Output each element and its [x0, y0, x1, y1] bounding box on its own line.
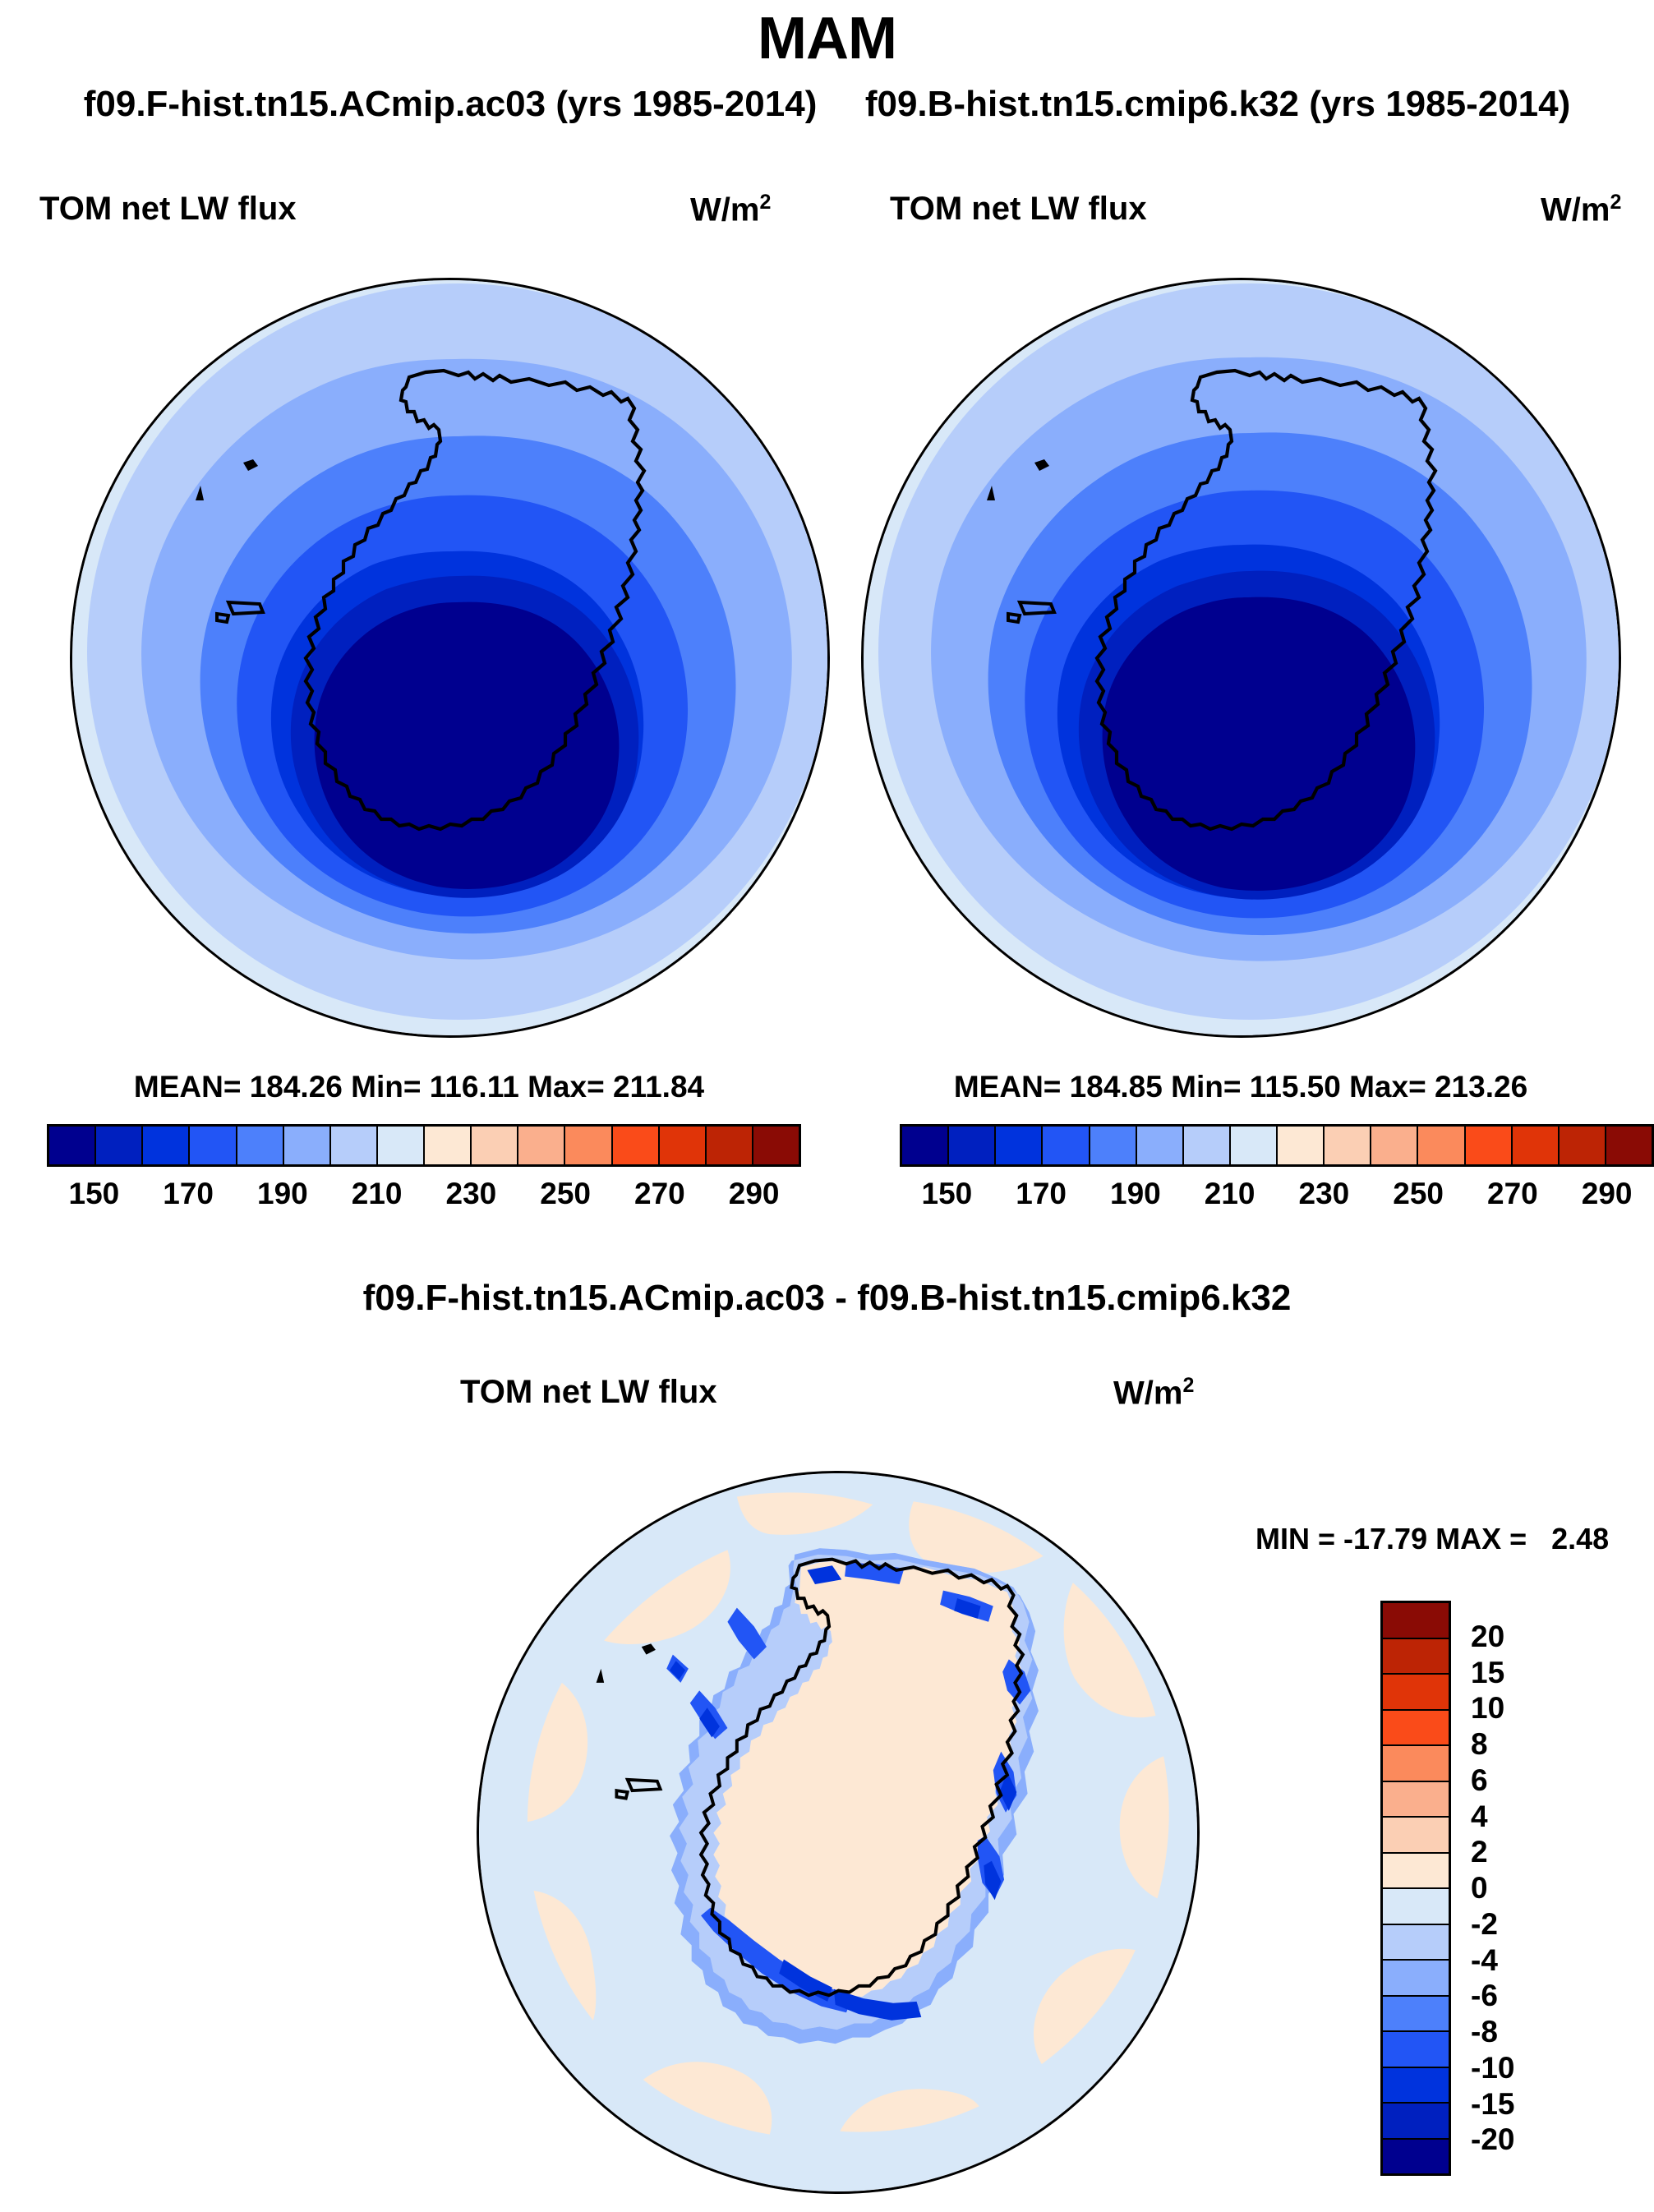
- colorbar-tick-label: 15: [1471, 1656, 1504, 1690]
- map-globe-right: [861, 278, 1621, 1038]
- colorbar-tick-label: -15: [1471, 2087, 1514, 2122]
- colorbar-cell: [1090, 1127, 1137, 1164]
- colorbar-cell: [1383, 1639, 1449, 1675]
- colorbar-cell: [1606, 1127, 1652, 1164]
- colorbar-tick-label: 250: [1393, 1177, 1444, 1211]
- colorbar-tick-label: 170: [163, 1177, 214, 1211]
- left-panel-stats: MEAN= 184.26 Min= 116.11 Max= 211.84: [33, 1070, 805, 1104]
- colorbar-tick-label: 6: [1471, 1763, 1488, 1798]
- colorbar-tick-label: 270: [1487, 1177, 1538, 1211]
- colorbar-tick-label: 290: [729, 1177, 780, 1211]
- colorbar-tick-label: 150: [922, 1177, 973, 1211]
- colorbar-cell: [902, 1127, 949, 1164]
- diff-panel-units: W/m2: [1113, 1374, 1194, 1412]
- colorbar-cell: [1383, 1711, 1449, 1747]
- colorbar-cell: [753, 1127, 799, 1164]
- difference-panel-title: f09.F-hist.tn15.ACmip.ac03 - f09.B-hist.…: [0, 1278, 1654, 1319]
- colorbar-cell: [49, 1127, 96, 1164]
- colorbar-cell: [284, 1127, 331, 1164]
- colorbar-cell: [660, 1127, 707, 1164]
- diff-panel-variable-label: TOM net LW flux: [460, 1374, 717, 1411]
- colorbar-tick-label: -4: [1471, 1943, 1498, 1978]
- colorbar-cell: [1418, 1127, 1465, 1164]
- colorbar-right-ticks: 150170190210230250270290: [900, 1177, 1654, 1214]
- right-panel-stats: MEAN= 184.85 Min= 115.50 Max= 213.26: [855, 1070, 1627, 1104]
- colorbar-cell: [1184, 1127, 1231, 1164]
- left-map-contours: [72, 280, 827, 1035]
- colorbar-cell: [1383, 1961, 1449, 1997]
- colorbar-tick-label: 210: [1205, 1177, 1255, 1211]
- colorbar-cell: [1513, 1127, 1560, 1164]
- colorbar-difference[interactable]: [1380, 1601, 1451, 2176]
- right-map-contours: [864, 280, 1619, 1035]
- colorbar-tick-label: -20: [1471, 2122, 1514, 2157]
- colorbar-difference-ticks: 20151086420-2-4-6-8-10-15-20: [1471, 1601, 1586, 2176]
- map-globe-left: [70, 278, 830, 1038]
- colorbar-tick-label: 230: [1299, 1177, 1350, 1211]
- colorbar-cell: [1383, 1603, 1449, 1639]
- colorbar-tick-label: -2: [1471, 1907, 1498, 1942]
- colorbar-right[interactable]: [900, 1124, 1654, 1167]
- colorbar-tick-label: 190: [257, 1177, 308, 1211]
- colorbar-cell: [565, 1127, 612, 1164]
- left-panel-variable-label: TOM net LW flux: [39, 191, 297, 228]
- colorbar-cell: [1371, 1127, 1418, 1164]
- colorbar-tick-label: 210: [352, 1177, 403, 1211]
- colorbar-cell: [331, 1127, 378, 1164]
- map-globe-difference: [477, 1471, 1200, 2194]
- colorbar-cell: [1383, 2032, 1449, 2068]
- colorbar-cell: [1231, 1127, 1278, 1164]
- colorbar-cell: [1325, 1127, 1371, 1164]
- colorbar-tick-label: 8: [1471, 1727, 1488, 1762]
- colorbar-cell: [1560, 1127, 1606, 1164]
- page-title: MAM: [0, 5, 1654, 72]
- colorbar-tick-label: 2: [1471, 1835, 1488, 1869]
- left-panel-units: W/m2: [690, 191, 771, 228]
- colorbar-tick-label: 250: [540, 1177, 591, 1211]
- right-panel-variable-label: TOM net LW flux: [890, 191, 1147, 228]
- colorbar-tick-label: 290: [1582, 1177, 1633, 1211]
- colorbar-cell: [1383, 2140, 1449, 2174]
- colorbar-cell: [1383, 1675, 1449, 1711]
- colorbar-cell: [1383, 1746, 1449, 1782]
- colorbar-cell: [1043, 1127, 1090, 1164]
- colorbar-cell: [472, 1127, 518, 1164]
- colorbar-cell: [237, 1127, 284, 1164]
- colorbar-cell: [96, 1127, 143, 1164]
- colorbar-cell: [707, 1127, 753, 1164]
- colorbar-cell: [1383, 1818, 1449, 1854]
- diff-minmax-label: MIN = -17.79 MAX = 2.48: [1255, 1522, 1609, 1556]
- colorbar-tick-label: 4: [1471, 1800, 1488, 1834]
- colorbar-cell: [1383, 1997, 1449, 2033]
- colorbar-cell: [1466, 1127, 1513, 1164]
- colorbar-cell: [996, 1127, 1043, 1164]
- case-title-left: f09.F-hist.tn15.ACmip.ac03 (yrs 1985-201…: [84, 84, 818, 125]
- colorbar-tick-label: -8: [1471, 2015, 1498, 2049]
- colorbar-left[interactable]: [47, 1124, 801, 1167]
- colorbar-tick-label: 10: [1471, 1691, 1504, 1726]
- colorbar-tick-label: 150: [69, 1177, 120, 1211]
- colorbar-cell: [1383, 2068, 1449, 2104]
- colorbar-cell: [1137, 1127, 1184, 1164]
- colorbar-cell: [1383, 1925, 1449, 1961]
- colorbar-tick-label: 270: [634, 1177, 685, 1211]
- colorbar-cell: [1383, 1889, 1449, 1925]
- colorbar-tick-label: -10: [1471, 2051, 1514, 2085]
- colorbar-cell: [190, 1127, 237, 1164]
- colorbar-cell: [143, 1127, 190, 1164]
- colorbar-cell: [518, 1127, 565, 1164]
- colorbar-tick-label: -6: [1471, 1979, 1498, 2013]
- colorbar-cell: [949, 1127, 996, 1164]
- case-titles-row: f09.F-hist.tn15.ACmip.ac03 (yrs 1985-201…: [0, 84, 1654, 125]
- colorbar-cell: [1278, 1127, 1325, 1164]
- colorbar-cell: [1383, 1854, 1449, 1890]
- colorbar-cell: [1383, 1782, 1449, 1818]
- colorbar-cell: [613, 1127, 660, 1164]
- colorbar-tick-label: 230: [446, 1177, 497, 1211]
- colorbar-tick-label: 190: [1110, 1177, 1161, 1211]
- colorbar-tick-label: 20: [1471, 1620, 1504, 1654]
- colorbar-cell: [425, 1127, 472, 1164]
- right-panel-units: W/m2: [1541, 191, 1621, 228]
- colorbar-tick-label: 170: [1016, 1177, 1067, 1211]
- colorbar-cell: [378, 1127, 425, 1164]
- colorbar-cell: [1383, 2104, 1449, 2140]
- colorbar-tick-label: 0: [1471, 1871, 1488, 1906]
- case-title-right: f09.B-hist.tn15.cmip6.k32 (yrs 1985-2014…: [865, 84, 1570, 125]
- colorbar-left-ticks: 150170190210230250270290: [47, 1177, 801, 1214]
- diff-map-contours: [479, 1473, 1197, 2191]
